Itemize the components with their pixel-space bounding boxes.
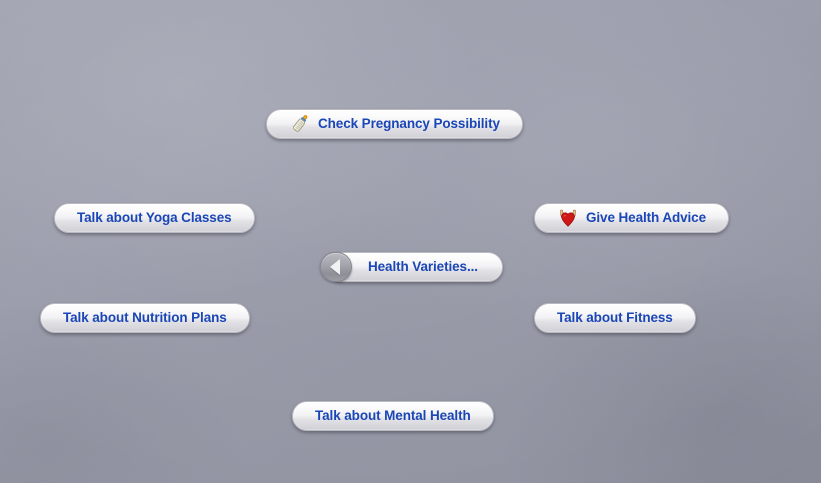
pie-menu-item-label: Talk about Nutrition Plans (63, 311, 227, 325)
pie-menu-item-label: Talk about Mental Health (315, 409, 471, 423)
pie-menu-item-health-varieties[interactable]: Health Varieties... (327, 252, 503, 282)
pie-menu-item-give-health-advice[interactable]: Give Health Advice (534, 203, 729, 233)
heart-in-hands-icon (557, 207, 579, 229)
pie-menu-item-talk-about-nutrition-plans[interactable]: Talk about Nutrition Plans (40, 303, 250, 333)
back-triangle-icon[interactable] (320, 252, 352, 282)
pie-menu-item-talk-about-mental-health[interactable]: Talk about Mental Health (292, 401, 494, 431)
pie-menu-item-talk-about-fitness[interactable]: Talk about Fitness (534, 303, 696, 333)
pie-menu-item-label: Give Health Advice (586, 211, 706, 225)
pie-menu-item-label: Talk about Fitness (557, 311, 673, 325)
pie-menu-item-label: Talk about Yoga Classes (77, 211, 232, 225)
pie-menu-item-check-pregnancy-possibility[interactable]: Check Pregnancy Possibility (266, 109, 523, 139)
pie-menu-item-talk-about-yoga-classes[interactable]: Talk about Yoga Classes (54, 203, 255, 233)
game-pie-menu-screen: Check Pregnancy Possibility Talk about Y… (0, 0, 821, 483)
baby-bottle-icon (289, 113, 311, 135)
pie-menu-item-label: Health Varieties... (368, 260, 478, 274)
pie-menu-item-label: Check Pregnancy Possibility (318, 117, 500, 131)
